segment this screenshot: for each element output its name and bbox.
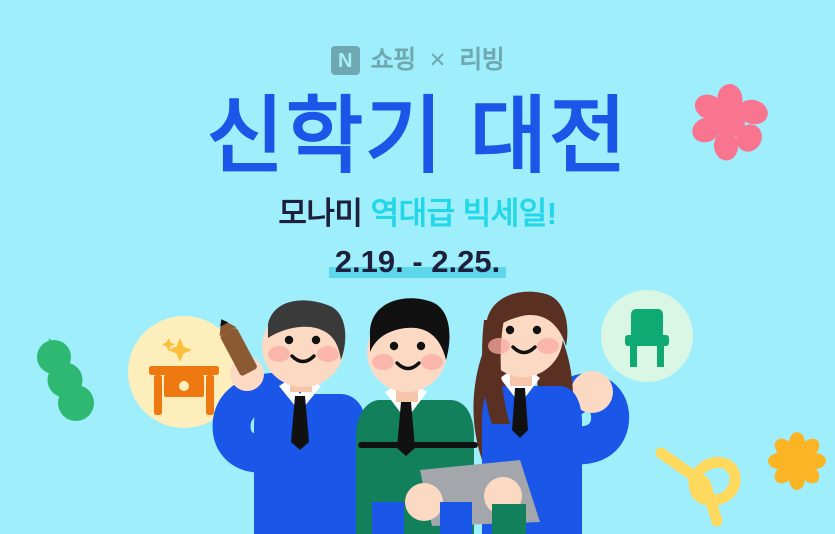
naver-logo-icon: N xyxy=(331,46,360,75)
subtitle: 모나미 역대급 빅세일! xyxy=(0,196,835,232)
separator-icon: ✕ xyxy=(429,50,447,71)
page-title: 신학기 대전 xyxy=(0,94,835,178)
service-name-label: 쇼핑 xyxy=(371,48,416,73)
student-left xyxy=(213,300,366,534)
promo-period-label: 2.19. - 2.25. xyxy=(335,244,500,279)
promo-banner: N 쇼핑 ✕ 리빙 신학기 대전 모나미 역대급 빅세일! 2.19. - 2.… xyxy=(0,0,835,534)
student-left-legs xyxy=(268,504,302,534)
ruler-icon xyxy=(358,442,478,448)
student-right-legs xyxy=(492,504,526,534)
subtitle-emphasis: 역대급 빅세일! xyxy=(371,196,557,231)
category-label: 리빙 xyxy=(459,48,504,73)
brand-row: N 쇼핑 ✕ 리빙 xyxy=(0,46,835,75)
subtitle-brand: 모나미 xyxy=(278,196,362,231)
students-illustration xyxy=(0,274,835,534)
promo-period: 2.19. - 2.25. xyxy=(0,243,835,280)
